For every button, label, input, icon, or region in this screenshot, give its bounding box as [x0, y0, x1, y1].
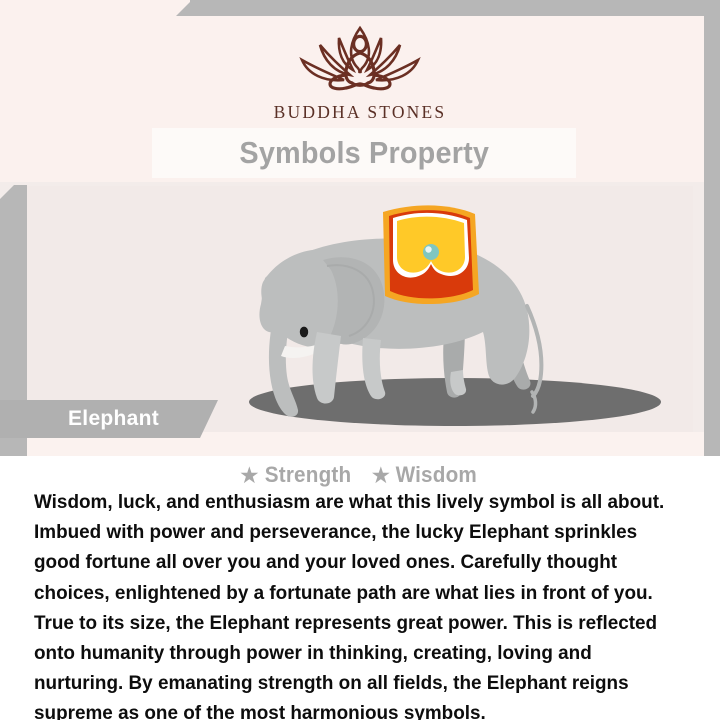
attribute-strength: ★Strength: [240, 462, 353, 488]
brand-name: BUDDHA STONES: [0, 102, 720, 123]
star-icon: ★: [240, 465, 258, 487]
page-title-bar: Symbols Property: [152, 128, 576, 178]
attribute-wisdom: ★Wisdom: [372, 462, 480, 488]
attribute-label: Wisdom: [396, 462, 477, 488]
illustration-stage: [27, 186, 693, 432]
lotus-meditation-figure-icon: [276, 18, 444, 98]
frame-band-top: [190, 0, 720, 16]
star-icon: ★: [372, 465, 390, 487]
walking-elephant-with-saddle-illustration: [27, 186, 693, 432]
symbol-attributes: ★Strength ★Wisdom: [0, 462, 720, 488]
symbol-description: Wisdom, luck, and enthusiasm are what th…: [34, 487, 669, 720]
page-title: Symbols Property: [239, 135, 489, 171]
symbol-property-card: BUDDHA STONES Symbols Property: [0, 0, 720, 720]
symbol-name-banner: Elephant: [0, 400, 218, 438]
symbol-name: Elephant: [68, 407, 159, 431]
attribute-label: Strength: [264, 462, 351, 488]
brand-logo: BUDDHA STONES: [0, 18, 720, 123]
